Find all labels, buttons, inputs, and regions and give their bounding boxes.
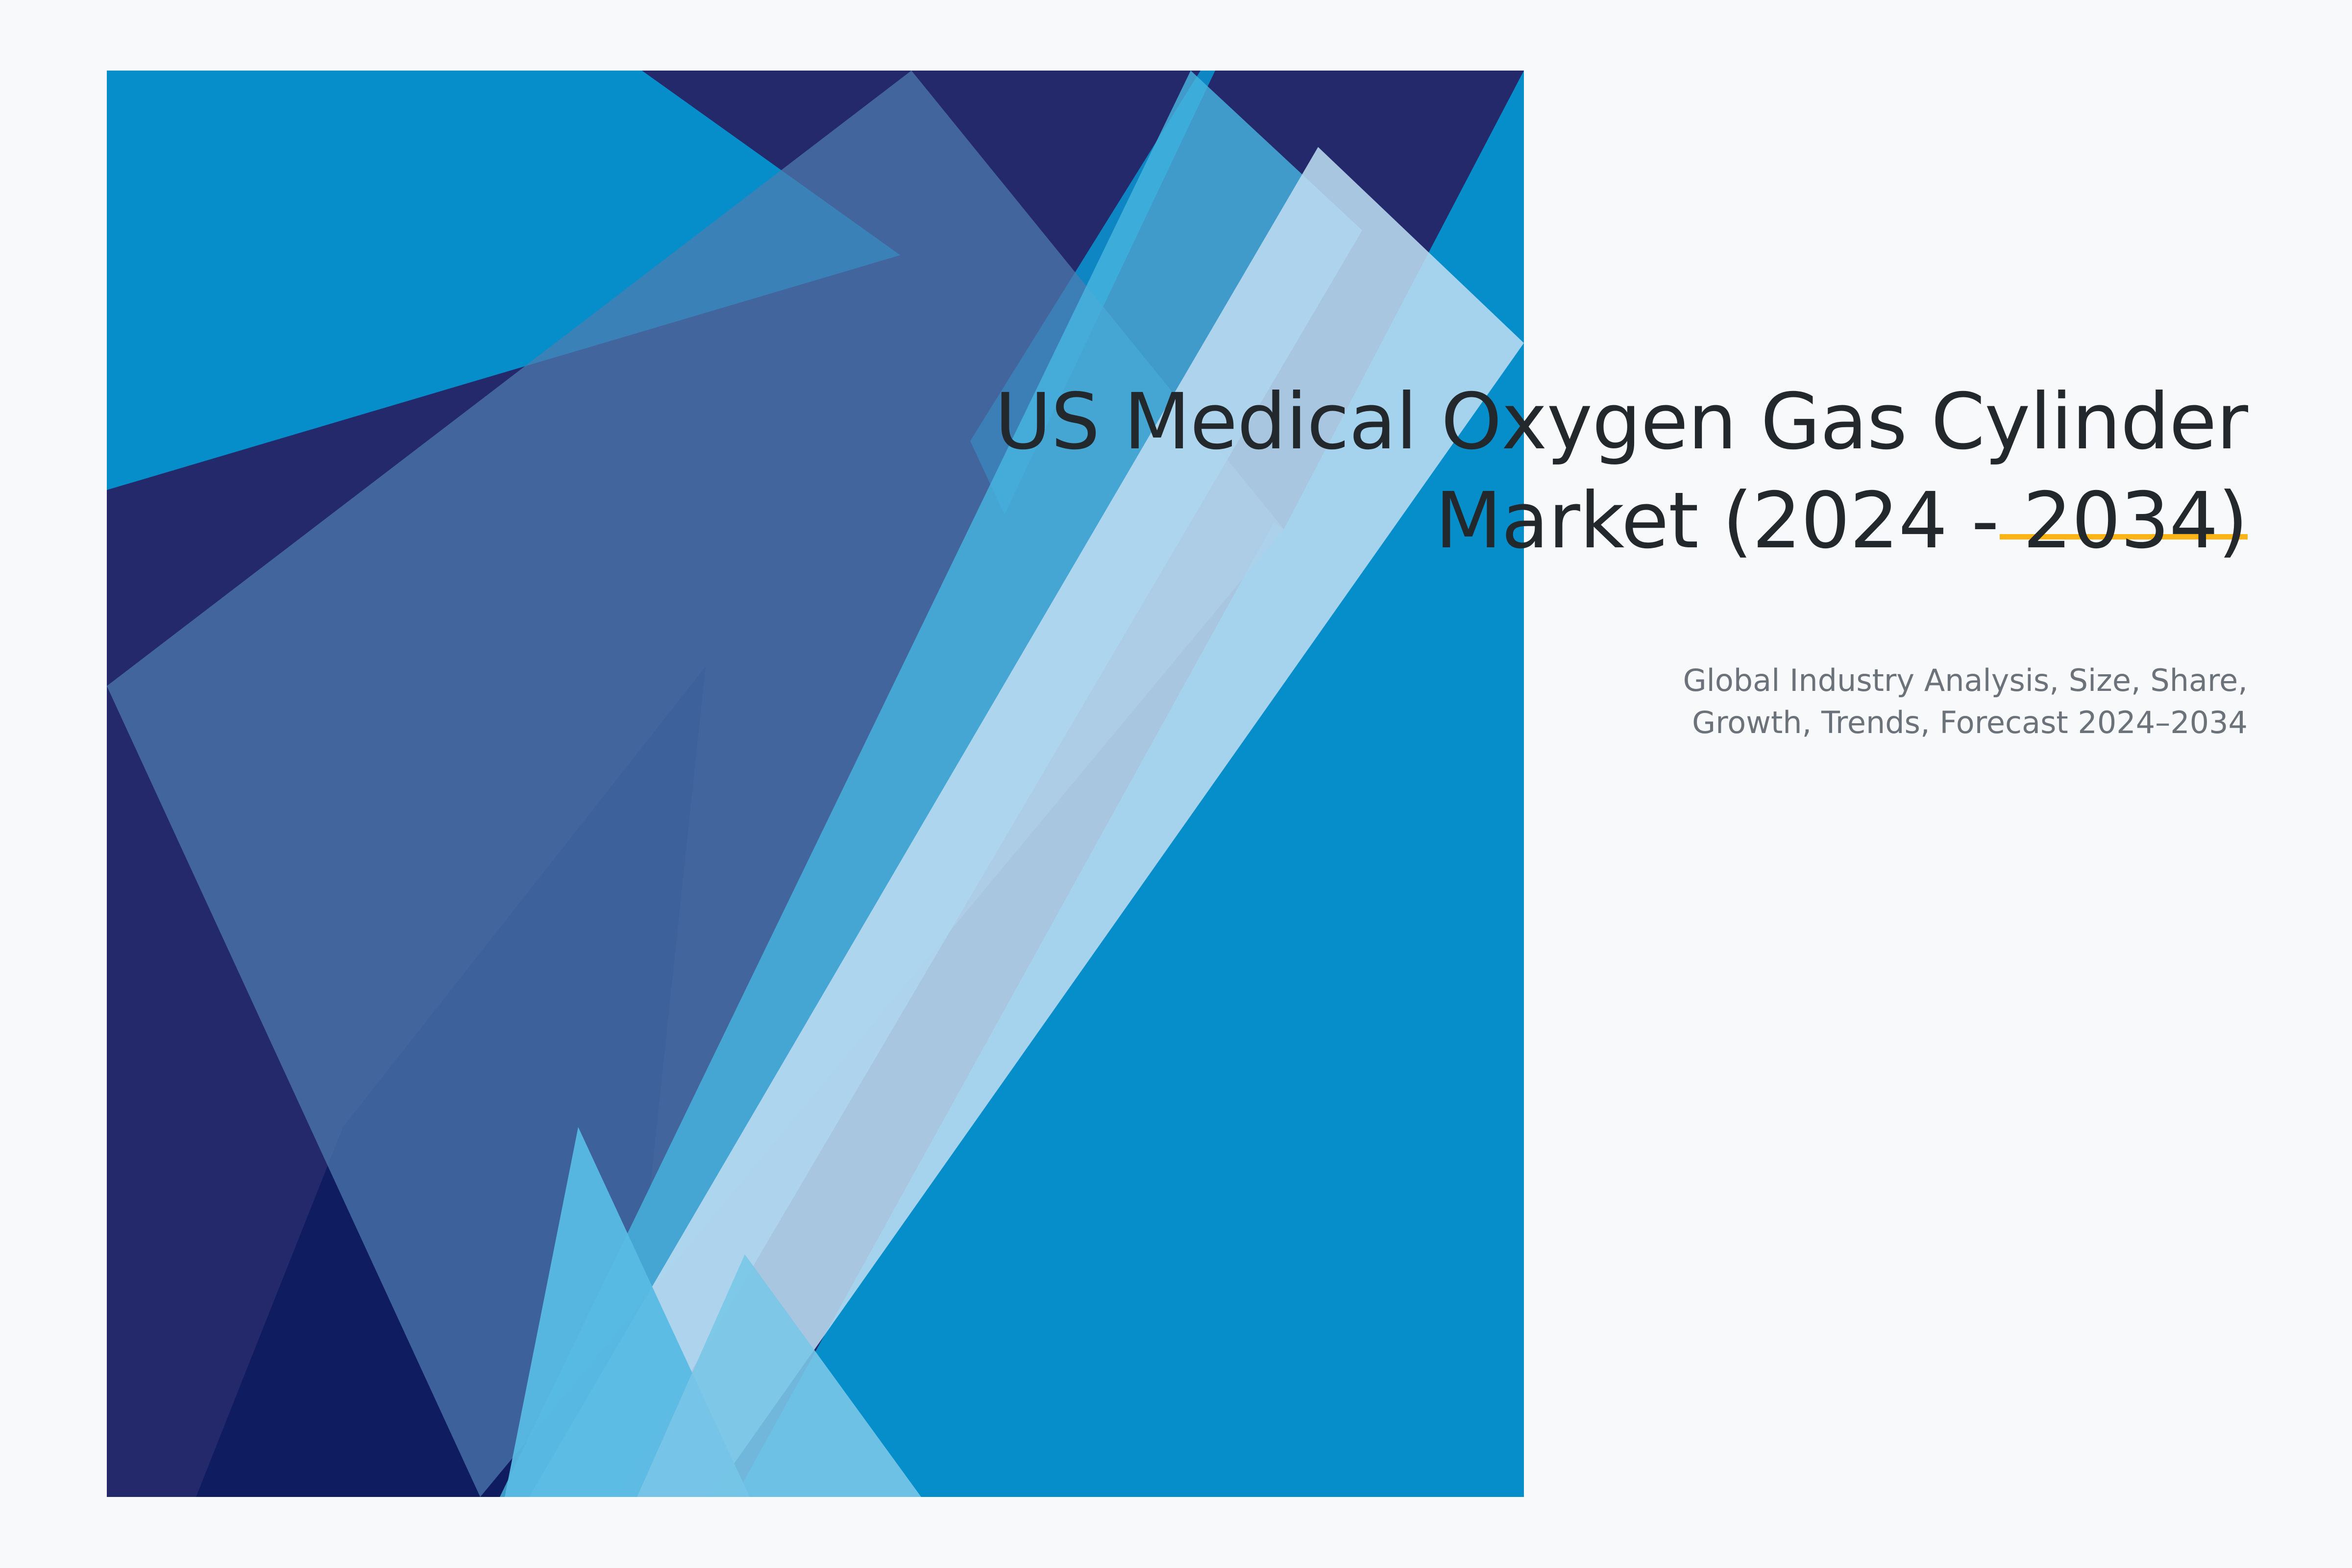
cover-text-block: US Medical Oxygen Gas Cylinder Market (2… xyxy=(993,372,2248,744)
page-subtitle-line-1: Global Industry Analysis, Size, Share, xyxy=(993,660,2248,702)
page-title: US Medical Oxygen Gas Cylinder Market (2… xyxy=(993,372,2248,570)
page-subtitle-line-2: Growth, Trends, Forecast 2024–2034 xyxy=(993,702,2248,744)
abstract-polygon-cover-graphic xyxy=(0,0,2352,1568)
page-title-line-1: US Medical Oxygen Gas Cylinder xyxy=(993,372,2248,471)
report-cover-page: US Medical Oxygen Gas Cylinder Market (2… xyxy=(0,0,2352,1568)
page-subtitle: Global Industry Analysis, Size, Share, G… xyxy=(993,660,2248,743)
page-title-line-2: Market (2024 - 2034) xyxy=(993,471,2248,570)
